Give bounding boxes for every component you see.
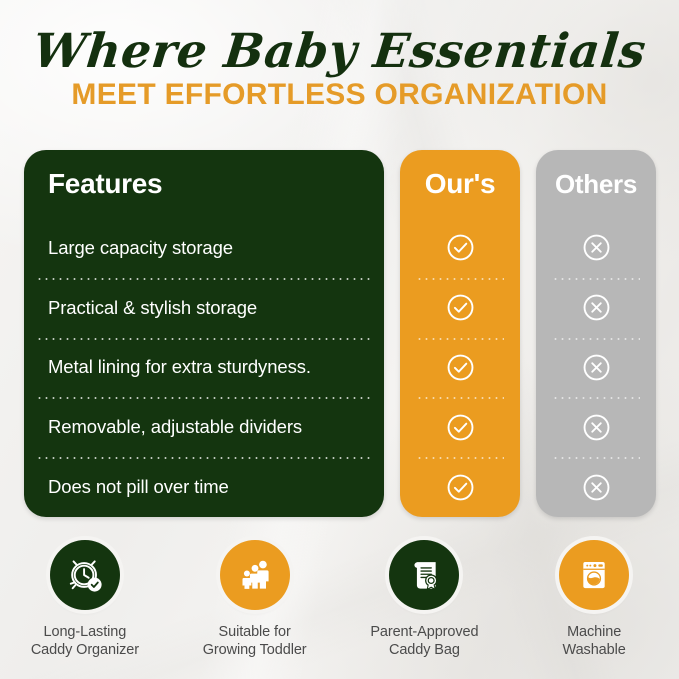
feature-label: Removable, adjustable dividers [24, 416, 302, 438]
badge-label: Parent-Approved Caddy Bag [370, 623, 478, 659]
badge-label: Suitable for Growing Toddler [203, 623, 307, 659]
washing-machine-icon [575, 556, 613, 594]
table-row: Removable, adjustable dividers [24, 397, 384, 457]
table-row: Practical & stylish storage [24, 278, 384, 338]
badge-circle [220, 540, 290, 610]
badge-label: Long-Lasting Caddy Organizer [31, 623, 139, 659]
feature-label: Practical & stylish storage [24, 297, 257, 319]
feature-label: Does not pill over time [24, 476, 229, 498]
check-circle-icon [446, 413, 475, 442]
badge-long-lasting: Long-Lasting Caddy Organizer [0, 540, 170, 659]
x-circle-icon [582, 233, 611, 262]
feature-label: Large capacity storage [24, 237, 233, 259]
certificate-award-icon [404, 555, 444, 595]
x-circle-icon [582, 413, 611, 442]
x-circle-icon [582, 353, 611, 382]
column-header-label: Our's [425, 168, 496, 200]
column-header-label: Features [48, 168, 162, 200]
badge-parent-approved: Parent-Approved Caddy Bag [340, 540, 510, 659]
table-row [536, 278, 656, 338]
badge-label-line1: Long-Lasting [31, 623, 139, 641]
feature-label: Metal lining for extra sturdyness. [24, 356, 311, 378]
check-circle-icon [446, 293, 475, 322]
ours-marks [400, 218, 520, 517]
column-others: Others [536, 150, 656, 517]
page-subtitle: MEET EFFORTLESS ORGANIZATION [0, 79, 679, 111]
badge-machine-washable: Machine Washable [509, 540, 679, 659]
badge-label-line2: Caddy Organizer [31, 641, 139, 659]
check-circle-icon [446, 353, 475, 382]
table-row [400, 457, 520, 517]
comparison-table: Features Large capacity storage Practica… [24, 150, 656, 517]
table-row [400, 278, 520, 338]
badge-label-line2: Caddy Bag [370, 641, 478, 659]
table-row [400, 397, 520, 457]
badge-growing-toddler: Suitable for Growing Toddler [170, 540, 340, 659]
badge-label-line1: Suitable for [203, 623, 307, 641]
table-row: Metal lining for extra sturdyness. [24, 338, 384, 398]
table-row [536, 338, 656, 398]
feature-rows: Large capacity storage Practical & styli… [24, 218, 384, 517]
benefit-badges: Long-Lasting Caddy Organizer [0, 540, 679, 659]
column-header-label: Others [555, 169, 637, 200]
table-row: Does not pill over time [24, 457, 384, 517]
check-circle-icon [446, 473, 475, 502]
column-header-features: Features [24, 150, 384, 218]
heading-block: Where Baby Essentials MEET EFFORTLESS OR… [0, 26, 679, 111]
others-marks [536, 218, 656, 517]
column-header-ours: Our's [400, 150, 520, 218]
badge-circle [559, 540, 629, 610]
x-circle-icon [582, 293, 611, 322]
table-row [400, 218, 520, 278]
infographic-page: Where Baby Essentials MEET EFFORTLESS OR… [0, 0, 679, 679]
badge-label-line2: Washable [563, 641, 626, 659]
alarm-clock-check-icon [63, 553, 107, 597]
page-title: Where Baby Essentials [0, 26, 679, 78]
family-group-icon [235, 555, 275, 595]
badge-label-line1: Parent-Approved [370, 623, 478, 641]
badge-circle [389, 540, 459, 610]
badge-label-line2: Growing Toddler [203, 641, 307, 659]
table-row [536, 457, 656, 517]
badge-label: Machine Washable [563, 623, 626, 659]
table-row [536, 397, 656, 457]
x-circle-icon [582, 473, 611, 502]
column-features: Features Large capacity storage Practica… [24, 150, 384, 517]
column-ours: Our's [400, 150, 520, 517]
table-row [400, 338, 520, 398]
badge-label-line1: Machine [563, 623, 626, 641]
column-header-others: Others [536, 150, 656, 218]
table-row: Large capacity storage [24, 218, 384, 278]
table-row [536, 218, 656, 278]
check-circle-icon [446, 233, 475, 262]
badge-circle [50, 540, 120, 610]
